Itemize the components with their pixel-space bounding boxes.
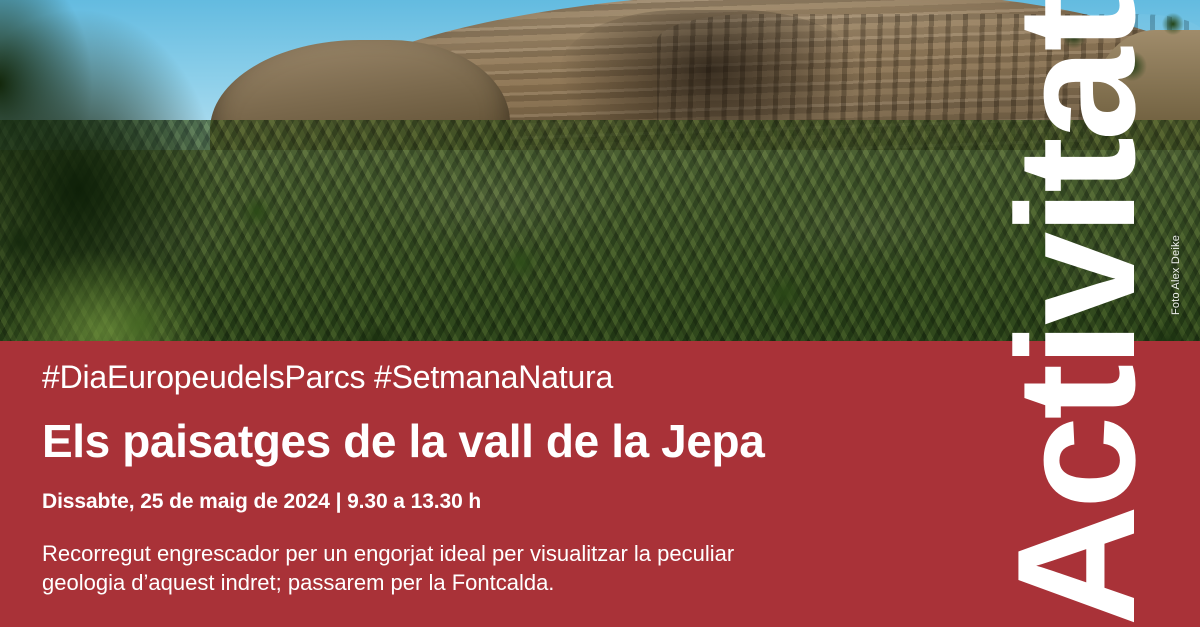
- date-time-line: Dissabte, 25 de maig de 2024 | 9.30 a 13…: [42, 489, 481, 514]
- text-block: #DiaEuropeudelsParcs #SetmanaNatura Els …: [42, 341, 972, 627]
- poster-canvas: #DiaEuropeudelsParcs #SetmanaNatura Els …: [0, 0, 1200, 627]
- description-line-2: geologia d’aquest indret; passarem per l…: [42, 568, 922, 597]
- photo-credit: Foto Alex Deike: [1170, 235, 1182, 315]
- description-paragraph: Recorregut engrescador per un engorjat i…: [42, 539, 922, 597]
- hashtags-line: #DiaEuropeudelsParcs #SetmanaNatura: [42, 360, 613, 395]
- page-title: Els paisatges de la vall de la Jepa: [42, 416, 764, 467]
- description-line-1: Recorregut engrescador per un engorjat i…: [42, 539, 922, 568]
